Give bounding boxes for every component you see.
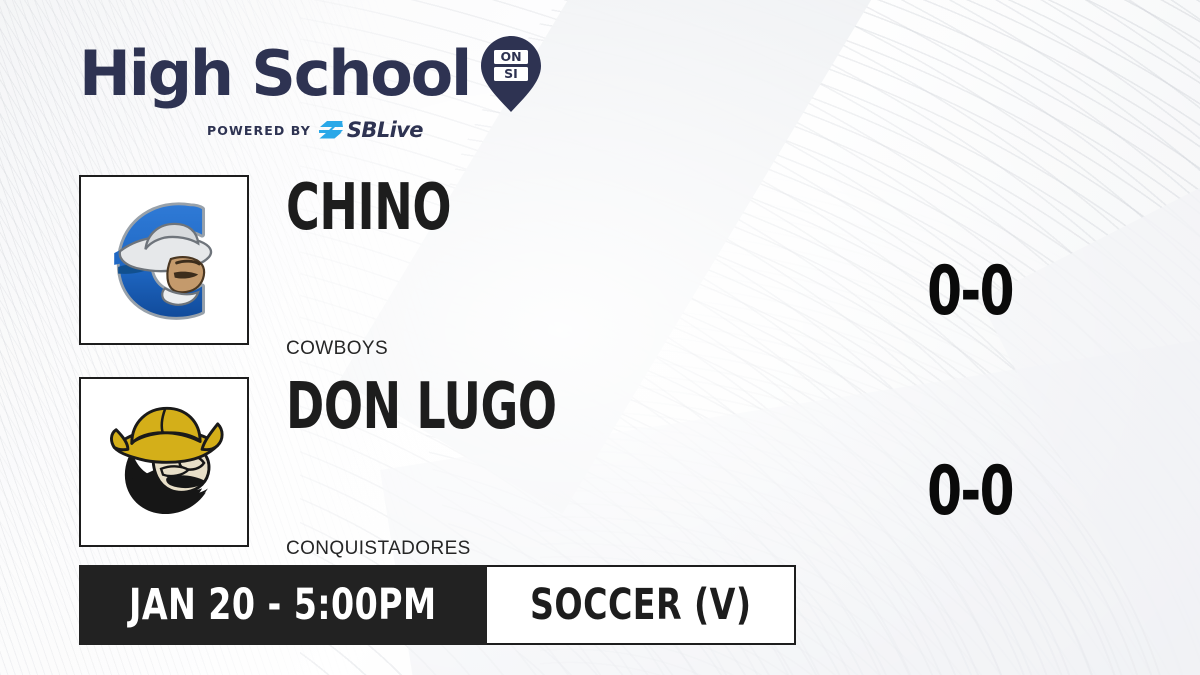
sblive-wordmark: SBLive	[347, 118, 423, 142]
team-score-chino: 0-0	[896, 258, 1044, 326]
game-sport-block: SOCCER (V)	[487, 565, 797, 645]
brand-header: High School ON SI POWERED BY	[79, 34, 509, 134]
on-si-pin-icon: ON SI	[480, 34, 542, 114]
powered-by-row: POWERED BY SBLive	[79, 118, 509, 142]
background-wedge-right	[980, 109, 1200, 675]
team-mascot-don-lugo: CONQUISTADORES	[286, 538, 471, 560]
team-name-chino: CHINO	[286, 176, 451, 240]
svg-text:ON: ON	[500, 49, 521, 64]
brand-logo-row: High School ON SI	[79, 34, 509, 114]
team-logo-box-chino	[79, 175, 249, 345]
team-mascot-chino: COWBOYS	[286, 338, 388, 360]
game-datetime-block: JAN 20 - 5:00PM	[79, 565, 487, 645]
sblive-logo: SBLive	[318, 118, 423, 142]
svg-text:SI: SI	[504, 66, 518, 81]
team-logo-box-don-lugo	[79, 377, 249, 547]
scoreboard-graphic: High School ON SI POWERED BY	[0, 0, 1200, 675]
powered-by-label: POWERED BY	[207, 123, 311, 138]
team-score-don-lugo: 0-0	[896, 458, 1044, 526]
sblive-s-icon	[318, 120, 344, 140]
team-name-don-lugo: DON LUGO	[286, 375, 557, 439]
game-sport-text: SOCCER (V)	[530, 584, 751, 627]
game-datetime-text: JAN 20 - 5:00PM	[129, 584, 436, 627]
brand-wordmark: High School	[79, 40, 470, 108]
game-info-bar: JAN 20 - 5:00PM SOCCER (V)	[79, 565, 796, 645]
